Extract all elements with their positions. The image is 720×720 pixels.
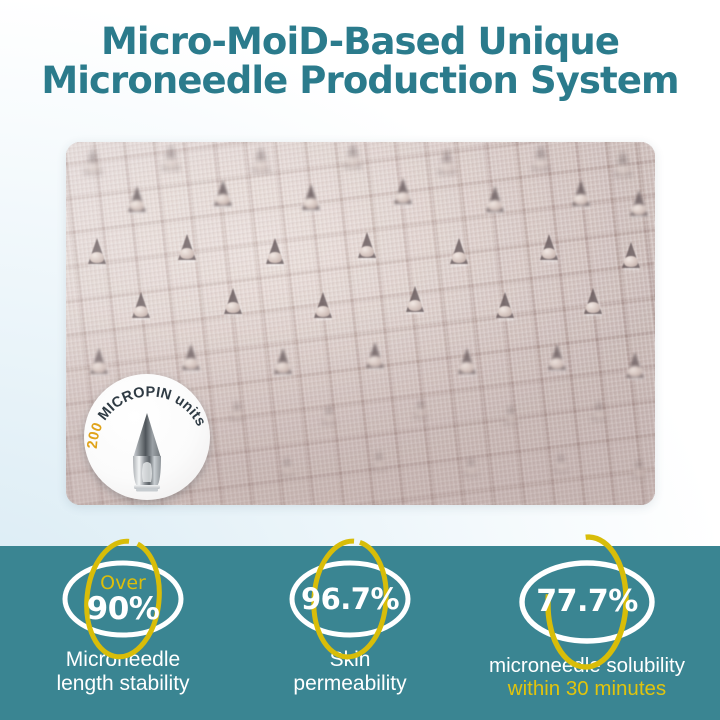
stat-ring-1-label: Over 90%	[58, 558, 188, 640]
stat-3-value: 77.7%	[536, 587, 638, 617]
micropin-units-badge: 200 MICROPIN units	[84, 374, 210, 500]
stats-row: Over 90% Microneedle length stability	[0, 546, 720, 720]
stat-1-caption-line-1: Microneedle	[56, 648, 189, 672]
stat-ring-1: Over 90%	[58, 558, 188, 640]
stat-1-value: 90%	[87, 594, 160, 625]
stat-1-caption-line-2: length stability	[56, 672, 189, 696]
stat-ring-3-label: 77.7%	[514, 558, 660, 646]
title-line-2: Microneedle Production System	[0, 61, 720, 100]
stat-ring-2-label: 96.7%	[285, 558, 415, 640]
stat-microneedle-solubility: 77.7% microneedle solubility within 30 m…	[454, 546, 720, 701]
stat-ring-2: 96.7%	[285, 558, 415, 640]
micropin-needle-icon	[123, 412, 171, 492]
stat-1-prefix: Over	[100, 574, 146, 593]
stat-2-caption-line-2: permeability	[293, 672, 406, 696]
stat-2-caption-line-1: Skin	[293, 648, 406, 672]
infographic-poster: Micro-MoiD-Based Unique Microneedle Prod…	[0, 0, 720, 720]
title-line-1: Micro-MoiD-Based Unique	[0, 22, 720, 61]
stat-3-caption: microneedle solubility within 30 minutes	[489, 654, 685, 701]
stats-band: Over 90% Microneedle length stability	[0, 546, 720, 720]
page-title: Micro-MoiD-Based Unique Microneedle Prod…	[0, 22, 720, 100]
stat-ring-3: 77.7%	[514, 558, 660, 646]
stat-skin-permeability: 96.7% Skin permeability	[246, 546, 454, 696]
stat-3-caption-line-2: within 30 minutes	[489, 677, 685, 700]
stat-2-value: 96.7%	[301, 585, 399, 614]
stat-microneedle-length-stability: Over 90% Microneedle length stability	[0, 546, 246, 696]
